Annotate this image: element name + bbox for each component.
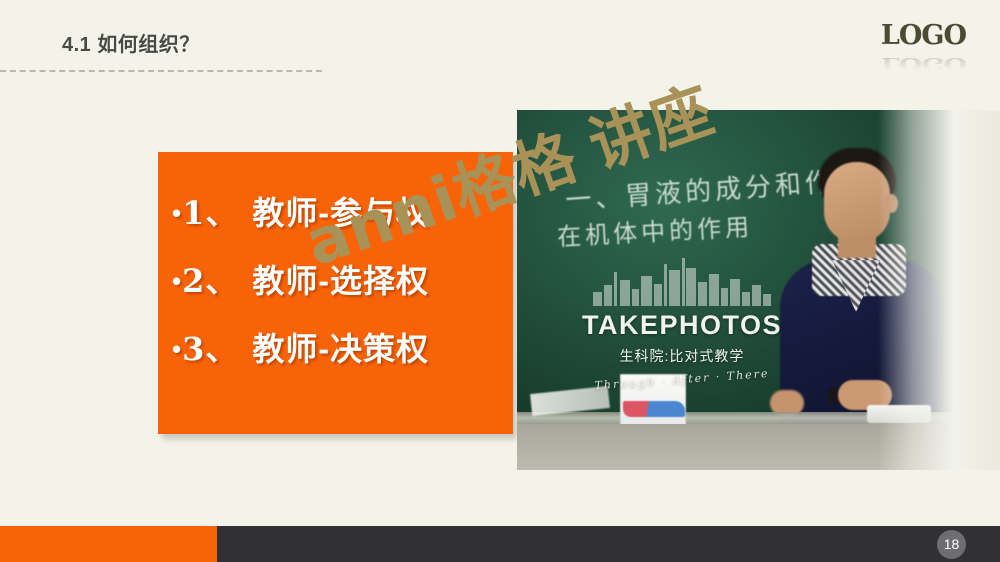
bullet-item: •2、教师-选择权	[172, 256, 429, 302]
content-box: •1、教师-参与权 •2、教师-选择权 •3、教师-决策权	[158, 152, 513, 434]
bright-wall	[878, 110, 1000, 470]
bullet-text: 教师-参与权	[252, 195, 429, 231]
bullet-number: 1、	[182, 194, 238, 232]
logo-reflection: LOGO	[881, 55, 966, 72]
footer-accent-bar	[0, 526, 217, 562]
slide-footer: 18	[0, 526, 1000, 562]
bullet-marker: •	[172, 266, 182, 296]
bullet-text: 教师-决策权	[252, 331, 429, 367]
page-title: 4.1 如何组织？	[62, 28, 200, 57]
title-divider	[0, 70, 322, 72]
overlay-subtitle: 生科院:比对式教学	[517, 346, 847, 366]
bullet-number: 3、	[182, 330, 238, 368]
overlay-title: TAKEPHOTOS	[517, 310, 847, 341]
footer-bar	[217, 526, 1000, 562]
bullet-number: 2、	[182, 262, 238, 300]
bullet-text: 教师-选择权	[252, 263, 429, 299]
logo-text: LOGO	[881, 22, 966, 49]
bullet-marker: •	[172, 198, 182, 228]
slide-header: 4.1 如何组织？	[0, 28, 1000, 74]
bullet-item: •1、教师-参与权	[172, 188, 429, 234]
city-skyline-icon	[587, 258, 777, 306]
photo-overlay: TAKEPHOTOS 生科院:比对式教学 Through · After · T…	[517, 258, 847, 386]
page-number-badge: 18	[937, 530, 966, 559]
bullet-marker: •	[172, 334, 182, 364]
logo: LOGO LOGO	[881, 22, 966, 77]
lecture-photo: 一、胃液的成分和作用 在机体中的作用	[517, 110, 1000, 470]
bullet-item: •3、教师-决策权	[172, 324, 429, 370]
slide-canvas: 4.1 如何组织？ LOGO LOGO •1、教师-参与权 •2、教师-选择权 …	[0, 0, 1000, 562]
